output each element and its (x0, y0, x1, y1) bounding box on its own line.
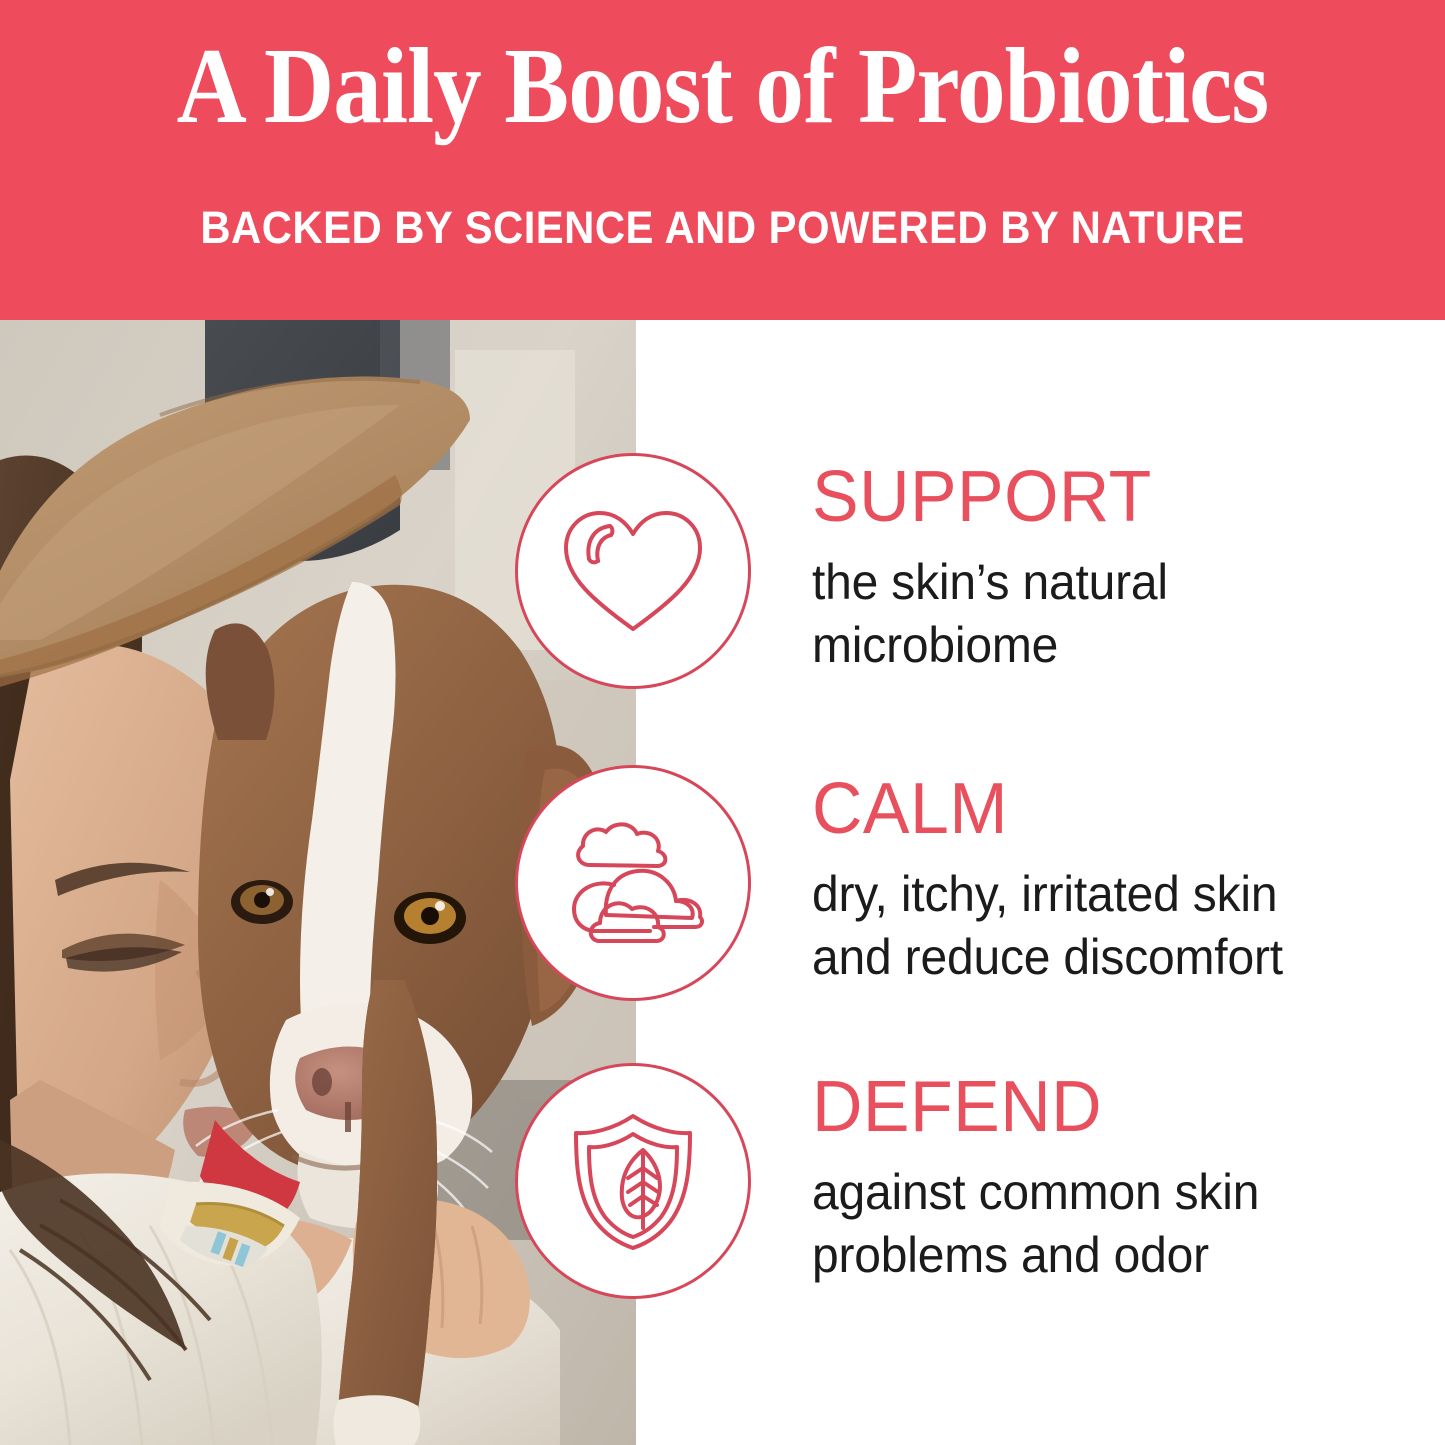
feature-title-defend: DEFEND (812, 1069, 1418, 1145)
heart-icon (515, 453, 751, 689)
feature-text-calm: CALM dry, itchy, irritated skin and redu… (812, 771, 1437, 989)
features-panel: SUPPORT the skin’s natural microbiome (636, 320, 1445, 1445)
shield-leaf-icon (515, 1063, 751, 1299)
feature-desc-line: and reduce discomfort (812, 926, 1412, 989)
feature-desc-line: against common skin (812, 1161, 1412, 1224)
feature-text-support: SUPPORT the skin’s natural microbiome (812, 459, 1437, 677)
feature-title-calm: CALM (812, 771, 1418, 847)
clouds-icon (515, 765, 751, 1001)
feature-desc-line: problems and odor (812, 1224, 1412, 1287)
feature-desc-line: dry, itchy, irritated skin (812, 863, 1412, 926)
header-banner: A Daily Boost of Probiotics BACKED BY SC… (0, 0, 1445, 320)
feature-desc-defend: against common skin problems and odor (812, 1161, 1412, 1287)
feature-desc-calm: dry, itchy, irritated skin and reduce di… (812, 863, 1412, 989)
feature-desc-line: microbiome (812, 614, 1412, 677)
feature-text-defend: DEFEND against common skin problems and … (812, 1069, 1437, 1287)
page-title: A Daily Boost of Probiotics (72, 28, 1373, 146)
feature-desc-support: the skin’s natural microbiome (812, 551, 1412, 677)
page-subtitle: BACKED BY SCIENCE AND POWERED BY NATURE (51, 202, 1395, 254)
feature-title-support: SUPPORT (812, 459, 1418, 535)
infographic-canvas: A Daily Boost of Probiotics BACKED BY SC… (0, 0, 1445, 1445)
feature-desc-line: the skin’s natural (812, 551, 1412, 614)
